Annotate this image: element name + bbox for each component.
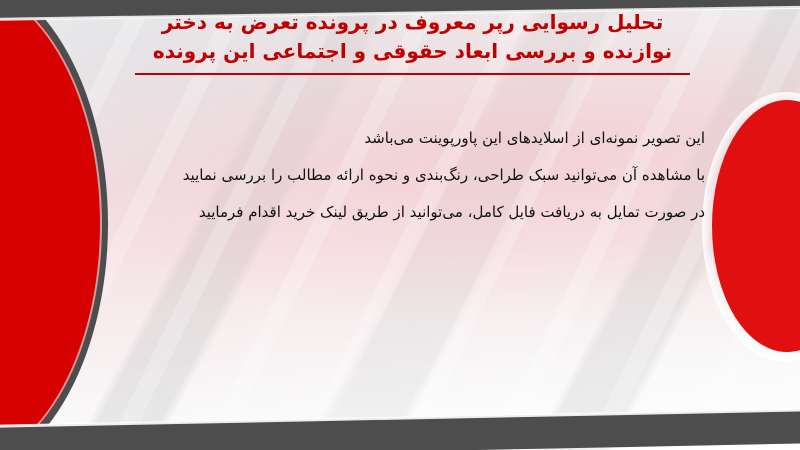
body-line-3: در صورت تمایل به دریافت فایل کامل، می‌تو…	[150, 194, 705, 231]
slide-title-line-2: نوازنده و بررسی ابعاد حقوقی و اجتماعی ای…	[135, 37, 690, 66]
presentation-slide: تحلیل رسوایی رپر معروف در پرونده تعرض به…	[0, 0, 800, 450]
title-underline-rule	[135, 73, 690, 75]
body-line-2: با مشاهده آن می‌توانید سبک طراحی، رنگ‌بن…	[150, 157, 705, 194]
body-line-1: این تصویر نمونه‌ای از اسلایدهای این پاور…	[150, 120, 705, 157]
slide-title: تحلیل رسوایی رپر معروف در پرونده تعرض به…	[135, 8, 690, 66]
slide-body-text: این تصویر نمونه‌ای از اسلایدهای این پاور…	[150, 120, 705, 231]
slide-title-line-1: تحلیل رسوایی رپر معروف در پرونده تعرض به…	[135, 8, 690, 37]
